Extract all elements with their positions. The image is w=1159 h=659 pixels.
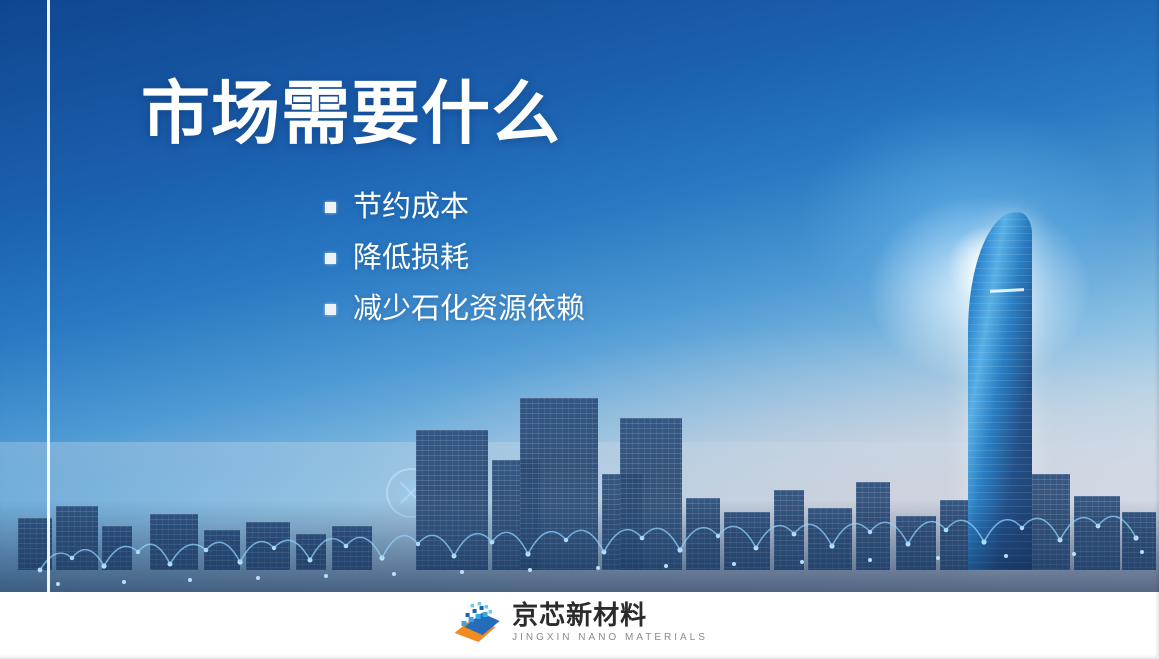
bullet-list: 节约成本 降低损耗 减少石化资源依赖 (325, 190, 585, 344)
company-name-cn: 京芯新材料 (512, 602, 708, 629)
slide-background-image: 市场需要什么 节约成本 降低损耗 减少石化资源依赖 (0, 0, 1159, 592)
page-title: 市场需要什么 (141, 78, 561, 150)
list-item: 减少石化资源依赖 (325, 292, 585, 326)
square-bullet-icon (325, 202, 336, 213)
sky-bloom-highlight (579, 0, 1159, 400)
presentation-slide: 市场需要什么 节约成本 降低损耗 减少石化资源依赖 (0, 0, 1159, 659)
jingxin-pixel-swoosh-logo-icon (451, 601, 501, 645)
city-skyline-graphic (0, 362, 1159, 592)
left-accent-rule (47, 0, 50, 592)
list-item: 降低损耗 (325, 241, 585, 275)
company-logo: 京芯新材料 JINGXIN NANO MATERIALS (451, 601, 708, 645)
bullet-label: 减少石化资源依赖 (353, 292, 585, 326)
company-name-en: JINGXIN NANO MATERIALS (512, 631, 708, 644)
list-item: 节约成本 (325, 190, 585, 224)
square-bullet-icon (325, 253, 336, 264)
bullet-label: 节约成本 (353, 190, 469, 224)
bullet-label: 降低损耗 (353, 241, 469, 275)
square-bullet-icon (325, 304, 336, 315)
slide-footer: 京芯新材料 JINGXIN NANO MATERIALS (0, 592, 1159, 659)
network-nodes-overlay (0, 500, 1159, 592)
logo-wordmark: 京芯新材料 JINGXIN NANO MATERIALS (512, 602, 708, 644)
